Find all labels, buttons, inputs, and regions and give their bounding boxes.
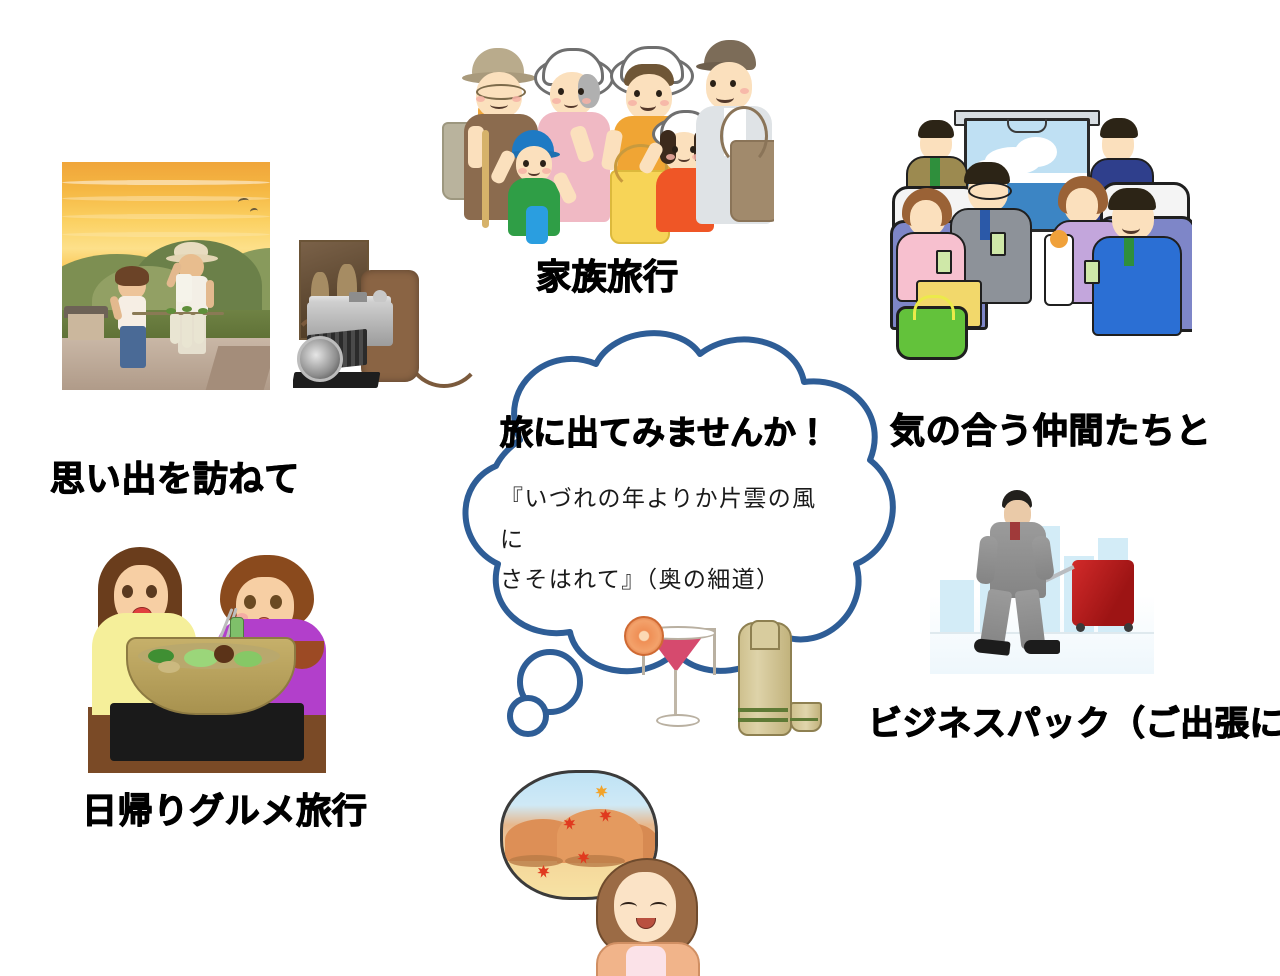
suitcase-wheel <box>1124 623 1133 632</box>
eye <box>578 88 584 95</box>
mouth <box>678 154 690 162</box>
arm <box>206 280 214 308</box>
eye <box>672 146 678 153</box>
hair <box>1108 188 1156 210</box>
hair <box>115 266 149 286</box>
cheek <box>628 100 637 106</box>
glass-stem <box>674 670 677 716</box>
suitcase-wheel <box>1076 623 1085 632</box>
cloud-streak <box>62 214 270 219</box>
red-suitcase <box>1072 560 1134 626</box>
daikon-radish <box>170 314 180 344</box>
cloud <box>1015 137 1057 167</box>
eye <box>634 90 640 97</box>
tofu <box>158 661 180 673</box>
shiitake-mushroom <box>214 645 234 663</box>
tree-line <box>509 855 563 867</box>
dress-shoe <box>1024 640 1060 654</box>
eye <box>244 595 256 609</box>
caption-family: 家族旅行 <box>536 249 679 300</box>
daydream-woman-illustration <box>500 770 716 976</box>
leaf <box>182 306 192 312</box>
cloud-quote-line-1: 『いづれの年よりか片雲の風に <box>500 479 830 560</box>
tree-line <box>565 855 625 867</box>
green-tie <box>1124 238 1134 266</box>
drink-can <box>936 250 952 274</box>
hair <box>918 120 954 138</box>
daikon-radish <box>182 314 192 348</box>
eye <box>730 80 736 87</box>
cheek <box>660 100 669 106</box>
closed-eye <box>620 902 637 912</box>
leaf <box>198 308 208 314</box>
head <box>516 146 552 182</box>
eye <box>656 90 662 97</box>
cheek <box>518 168 527 174</box>
building <box>940 580 974 632</box>
towel <box>176 274 192 302</box>
hair <box>1100 118 1138 138</box>
caption-friends: 気の合う仲間たちと <box>890 403 1211 454</box>
cheek <box>542 168 551 174</box>
eye <box>270 595 282 609</box>
train-friends-illustration <box>884 108 1192 380</box>
eye <box>523 160 529 167</box>
cheek <box>666 154 675 160</box>
green-tie <box>930 158 940 188</box>
mouth <box>490 100 508 109</box>
bag-strap <box>720 106 768 166</box>
wooden-plank <box>206 346 270 390</box>
face <box>1066 188 1098 222</box>
cheek <box>582 98 591 104</box>
mouth <box>716 92 734 103</box>
eye <box>540 160 546 167</box>
drink-can <box>1084 260 1100 284</box>
mouth <box>640 100 656 111</box>
cup-band <box>790 718 818 721</box>
cabbage <box>234 651 262 667</box>
travel-poster: 旅に出てみませんか！ 『いづれの年よりか片雲の風に さそはれて』（奥の細道） <box>0 0 1280 976</box>
mouth <box>1122 222 1140 234</box>
mouth <box>528 168 540 176</box>
necktie <box>1010 522 1020 540</box>
leaf <box>166 308 176 314</box>
bottle-neck <box>750 620 780 650</box>
bottle-band <box>738 718 788 722</box>
sake-set <box>732 622 816 742</box>
head <box>626 74 672 120</box>
cheek <box>552 98 561 104</box>
blue-suit <box>1092 236 1182 336</box>
jeans <box>120 326 146 368</box>
hotpot-meal-illustration <box>88 527 326 773</box>
businessman-illustration <box>930 478 1154 674</box>
cloud-headline: 旅に出てみませんか！ <box>500 415 830 451</box>
drink-can <box>990 232 1006 256</box>
glass-foot <box>656 714 700 727</box>
family-group-illustration <box>438 34 774 244</box>
orange-slice-garnish <box>624 616 664 656</box>
farm-house <box>68 314 104 340</box>
cabbage <box>184 649 218 667</box>
mouth <box>564 100 578 108</box>
hair <box>964 162 1010 184</box>
daikon-radish <box>194 314 204 344</box>
drinks-illustration <box>636 606 816 756</box>
cloud-quote: 『いづれの年よりか片雲の風に さそはれて』（奥の細道） <box>500 479 830 600</box>
cheek <box>512 96 521 102</box>
caption-memories: 思い出を訪ねて <box>50 451 300 502</box>
blue-tie <box>980 210 990 240</box>
window-latch <box>1007 119 1047 133</box>
cheek <box>476 96 485 102</box>
eye <box>146 585 157 598</box>
cloud-text-block: 旅に出てみませんか！ 『いづれの年よりか片雲の風に さそはれて』（奥の細道） <box>500 415 830 600</box>
maple-leaf-icon <box>595 785 608 798</box>
memories-painting-illustration <box>62 162 270 390</box>
glasses <box>968 182 1012 200</box>
cloud-streak <box>62 180 270 185</box>
camisole <box>626 946 666 976</box>
eye <box>558 88 564 95</box>
eye <box>122 585 133 598</box>
caption-business: ビジネスパック（ご出張に） <box>868 696 1280 745</box>
cocktail-glass <box>636 614 716 738</box>
eye <box>710 80 716 87</box>
water-bottle <box>526 206 548 244</box>
walking-cane <box>482 130 489 228</box>
cheek <box>740 88 749 94</box>
sake-cup-ochoko <box>790 702 822 732</box>
orange-fruit <box>1050 230 1068 248</box>
caption-gourmet: 日帰りグルメ旅行 <box>82 783 368 834</box>
bottle-band <box>738 708 788 712</box>
closed-eye <box>650 902 667 912</box>
cloud-quote-line-2: さそはれて』（奥の細道） <box>500 560 830 600</box>
cloud-streak <box>62 232 270 237</box>
camera-lens <box>297 336 343 382</box>
face <box>910 200 942 234</box>
